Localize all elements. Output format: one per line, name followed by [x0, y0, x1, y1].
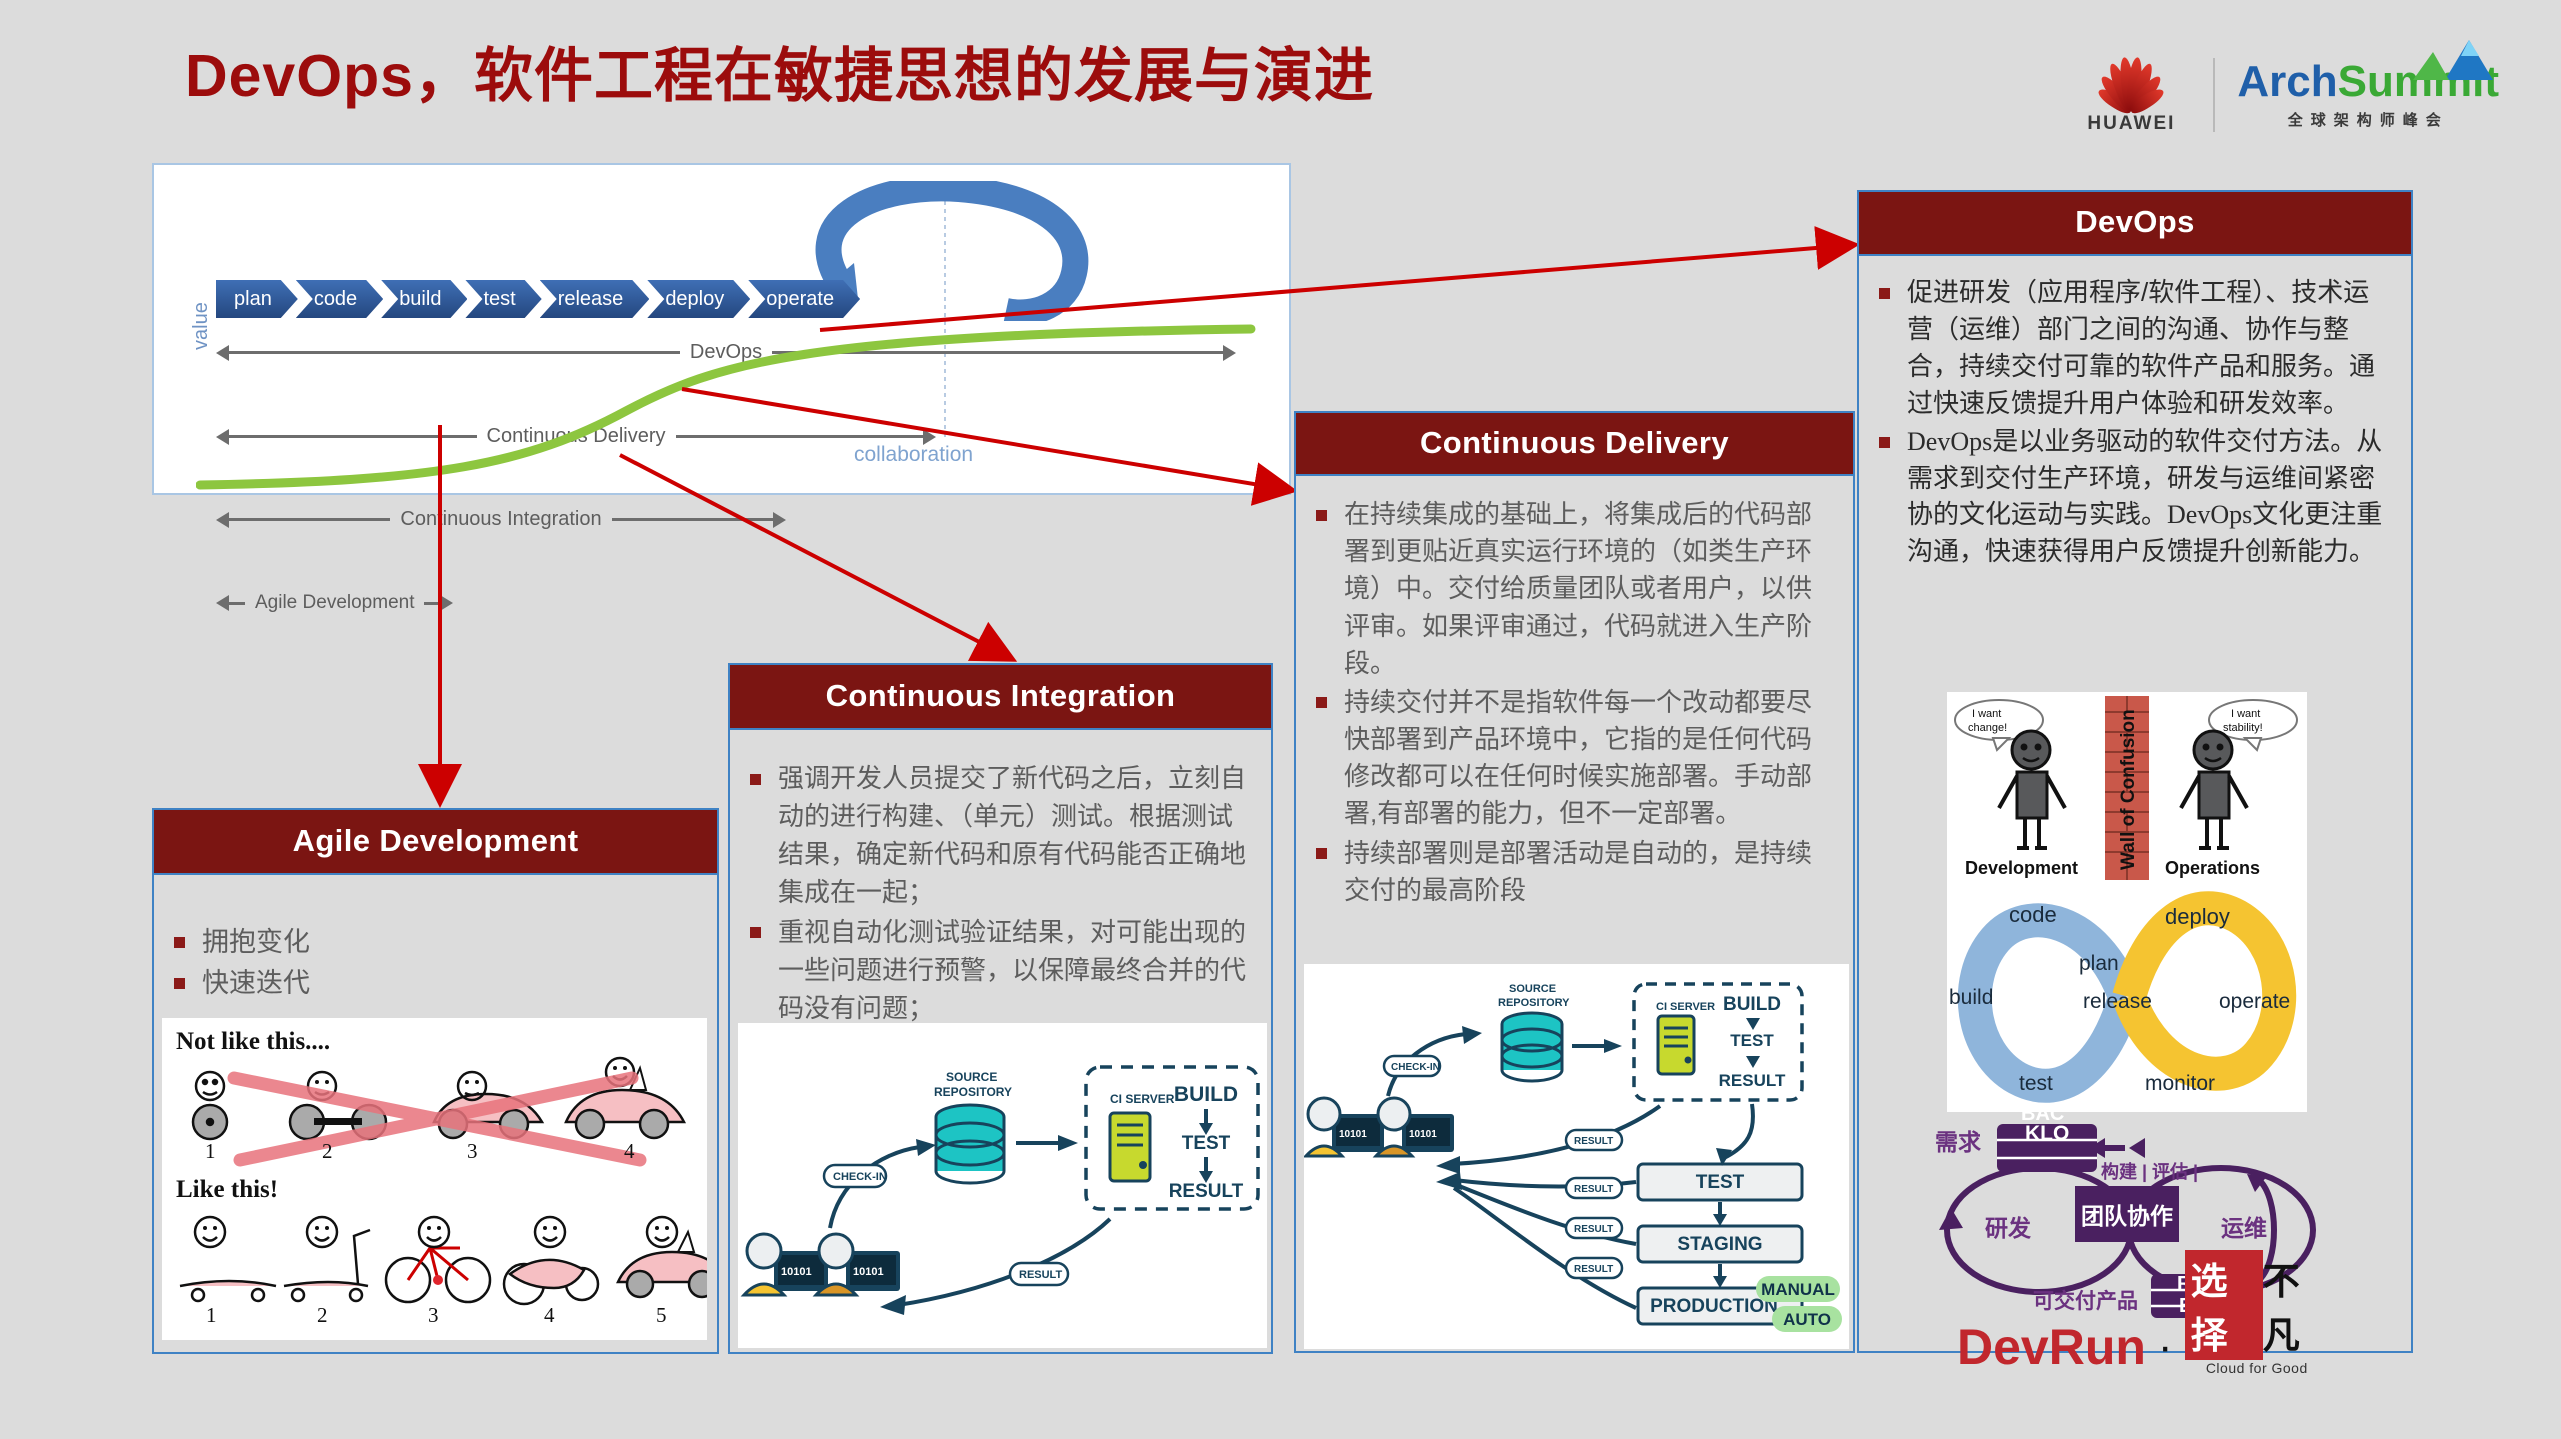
devrun-brand: DevRun	[1957, 1318, 2146, 1376]
svg-text:RESULT: RESULT	[1574, 1224, 1613, 1235]
svg-text:1: 1	[206, 1303, 217, 1327]
svg-text:KLO: KLO	[2025, 1122, 2069, 1145]
panel-devops[interactable]: DevOps 促进研发（应用程序/软件工程）、技术运营（运维）部门之间的沟通、协…	[1857, 190, 2413, 1353]
svg-text:PRODUCTION: PRODUCTION	[1650, 1296, 1778, 1317]
svg-text:3: 3	[428, 1303, 439, 1327]
devrun-tagline-en: Cloud for Good	[2206, 1360, 2308, 1376]
list-item: 快速迭代	[168, 964, 701, 1003]
svg-text:change!: change!	[1968, 722, 2007, 734]
svg-text:5: 5	[656, 1303, 667, 1327]
evolution-band-label: Agile Development	[245, 592, 424, 614]
evolution-band-agile: Agile Development	[216, 592, 571, 614]
list-item: 在持续集成的基础上，将集成后的代码部署到更贴近真实运行环境的（如类生产环境）中。…	[1310, 496, 1837, 682]
svg-text:code: code	[2009, 902, 2057, 927]
devops-evolution-figure: plancodebuildtestreleasedeployoperate De…	[152, 163, 1291, 495]
panel-title-continuous-delivery: Continuous Delivery	[1296, 413, 1853, 476]
svg-text:operate: operate	[2219, 990, 2290, 1013]
svg-text:I want: I want	[2231, 708, 2260, 720]
devrun-tagline-cn-highlight: 选择	[2185, 1250, 2263, 1360]
list-item: 重视自动化测试验证结果，对可能出现的一些问题进行预警，以保障最终合并的代码没有问…	[744, 914, 1255, 1028]
page-title: DevOps，软件工程在敏捷思想的发展与演进	[185, 28, 1374, 113]
ci-pipeline-figure: 10101 10101 CHECK-IN SOURCE REPOSITORY	[738, 1023, 1267, 1348]
panel-title-agile: Agile Development	[154, 810, 717, 875]
svg-text:Wall of Confusion: Wall of Confusion	[2118, 709, 2139, 870]
brand-dot: ·	[2158, 1322, 2173, 1376]
list-item: 持续部署则是部署活动是自动的，是持续交付的最高阶段	[1310, 835, 1837, 909]
pipeline-stage-code: code	[296, 280, 383, 318]
svg-text:Operations: Operations	[2165, 858, 2260, 878]
list-item: 强调开发人员提交了新代码之后，立刻自动的进行构建、（单元）测试。根据测试结果，确…	[744, 760, 1255, 912]
svg-text:需求: 需求	[1935, 1129, 1981, 1155]
svg-text:AUTO: AUTO	[1783, 1310, 1831, 1329]
svg-text:4: 4	[544, 1303, 555, 1327]
svg-text:SOURCE: SOURCE	[1509, 983, 1556, 995]
svg-text:10101: 10101	[1339, 1129, 1367, 1140]
pipeline-stage-test: test	[465, 280, 541, 318]
svg-text:10101: 10101	[781, 1266, 812, 1278]
svg-text:REPOSITORY: REPOSITORY	[934, 1085, 1012, 1099]
figure-caption-not-like-this: Not like this....	[176, 1028, 330, 1056]
svg-text:I want: I want	[1972, 708, 2001, 720]
wall-of-confusion-art: Wall of Confusion I want change! Develop…	[1947, 692, 2307, 882]
svg-text:2: 2	[322, 1139, 333, 1163]
svg-text:RESULT: RESULT	[1574, 1184, 1613, 1195]
archsummit-logo: ArchSummit 全球架构师峰会	[2237, 60, 2499, 130]
svg-text:CI SERVER: CI SERVER	[1656, 1001, 1715, 1013]
svg-text:4: 4	[624, 1139, 635, 1163]
svg-text:10101: 10101	[1409, 1129, 1437, 1140]
pipeline-stage-deploy: deploy	[647, 280, 750, 318]
devrun-tagline-cn-rest: 不凡	[2263, 1251, 2329, 1359]
svg-text:BUILD: BUILD	[1723, 994, 1781, 1015]
svg-text:BUILD: BUILD	[1174, 1083, 1238, 1106]
devops-infinity-figure: code plan build release test deploy oper…	[1947, 882, 2307, 1112]
ci-pipeline-art: 10101 10101 CHECK-IN SOURCE REPOSITORY	[738, 1023, 1267, 1348]
svg-text:构建 | 评估 |: 构建 | 评估 |	[2101, 1161, 2198, 1182]
svg-text:CI SERVER: CI SERVER	[1110, 1092, 1175, 1106]
svg-text:release: release	[2083, 990, 2152, 1013]
cd-bullet-list: 在持续集成的基础上，将集成后的代码部署到更贴近真实运行环境的（如类生产环境）中。…	[1310, 496, 1837, 909]
list-item: 持续交付并不是指软件每一个改动都要尽快部署到产品环境中，它指的是任何代码修改都可…	[1310, 684, 1837, 833]
pipeline-stage-build: build	[381, 280, 467, 318]
svg-text:plan: plan	[2079, 952, 2119, 975]
svg-text:TEST: TEST	[1730, 1031, 1774, 1050]
logo-divider	[2213, 58, 2215, 132]
svg-text:TEST: TEST	[1696, 1172, 1745, 1193]
huawei-label: HUAWEI	[2087, 113, 2175, 135]
svg-text:3: 3	[467, 1139, 478, 1163]
svg-text:研发: 研发	[1985, 1215, 2031, 1241]
svg-text:Development: Development	[1965, 858, 2078, 878]
svg-text:stability!: stability!	[2223, 722, 2263, 734]
cd-pipeline-art: 10101 10101 CHECK-IN SOURCE REPOSITORY	[1304, 964, 1849, 1349]
svg-text:MANUAL: MANUAL	[1761, 1280, 1835, 1299]
svg-text:deploy: deploy	[2165, 904, 2230, 929]
list-item: 促进研发（应用程序/软件工程）、技术运营（运维）部门之间的沟通、协作与整合，持续…	[1873, 274, 2395, 422]
evolution-band-continuous-integration: Continuous Integration	[216, 508, 786, 531]
evolution-band-label: Continuous Integration	[390, 508, 611, 531]
list-item: DevOps是以业务驱动的软件交付方法。从需求到交付生产环境，研发与运维间紧密协…	[1873, 424, 2395, 572]
devrun-process-figure: BAC KLO REL EAS 团队协作 需求 研发 运维 可交付产品 构建 |…	[1929, 1112, 2329, 1352]
figure-caption-like-this: Like this!	[176, 1176, 278, 1204]
cd-pipeline-figure: 10101 10101 CHECK-IN SOURCE REPOSITORY	[1304, 964, 1849, 1349]
panel-title-devops: DevOps	[1859, 192, 2411, 256]
svg-text:STAGING: STAGING	[1677, 1234, 1762, 1255]
svg-text:RESULT: RESULT	[1574, 1136, 1613, 1147]
agile-mvp-figure: Not like this.... Like this!	[162, 1018, 707, 1340]
ci-bullet-list: 强调开发人员提交了新代码之后，立刻自动的进行构建、（单元）测试。根据测试结果，确…	[744, 760, 1255, 1028]
svg-text:10101: 10101	[853, 1266, 884, 1278]
pipeline-stage-row: plancodebuildtestreleasedeployoperate	[216, 280, 858, 318]
svg-text:REPOSITORY: REPOSITORY	[1498, 997, 1570, 1009]
devops-infinity-art: code plan build release test deploy oper…	[1947, 882, 2307, 1112]
svg-text:团队协作: 团队协作	[2081, 1203, 2173, 1229]
pipeline-stage-release: release	[540, 280, 650, 318]
devops-bullet-list: 促进研发（应用程序/软件工程）、技术运营（运维）部门之间的沟通、协作与整合，持续…	[1873, 274, 2395, 571]
panel-agile-development[interactable]: Agile Development 拥抱变化 快速迭代 Not like thi…	[152, 808, 719, 1354]
huawei-logo: HUAWEI	[2071, 55, 2191, 135]
svg-text:运维: 运维	[2221, 1215, 2267, 1241]
agile-bullet-list: 拥抱变化 快速迭代	[168, 923, 701, 1003]
svg-text:1: 1	[205, 1139, 216, 1163]
pipeline-stage-plan: plan	[216, 280, 298, 318]
svg-text:2: 2	[317, 1303, 328, 1327]
value-growth-curve	[196, 315, 1256, 491]
svg-text:SOURCE: SOURCE	[946, 1070, 997, 1084]
svg-text:RESULT: RESULT	[1719, 1071, 1786, 1090]
svg-text:RESULT: RESULT	[1019, 1269, 1062, 1281]
svg-text:monitor: monitor	[2145, 1072, 2215, 1095]
panel-continuous-integration[interactable]: Continuous Integration 强调开发人员提交了新代码之后，立刻…	[728, 663, 1273, 1354]
svg-text:test: test	[2019, 1072, 2053, 1095]
logo-bar: HUAWEI ArchSummit 全球架构师峰会	[2071, 55, 2499, 135]
list-item: 拥抱变化	[168, 923, 701, 962]
svg-text:build: build	[1949, 986, 1993, 1009]
mountain-icon	[2383, 36, 2503, 82]
svg-text:CHECK-IN: CHECK-IN	[1391, 1062, 1440, 1073]
svg-text:RESULT: RESULT	[1574, 1264, 1613, 1275]
wall-of-confusion-figure: Wall of Confusion I want change! Develop…	[1947, 692, 2307, 882]
archsummit-subtitle: 全球架构师峰会	[2288, 109, 2449, 130]
svg-text:CHECK-IN: CHECK-IN	[833, 1171, 887, 1183]
svg-text:RESULT: RESULT	[1169, 1181, 1244, 1202]
devrun-brand-lockup: DevRun · 选择不凡 Cloud for Good	[1957, 1250, 2329, 1376]
panel-continuous-delivery[interactable]: Continuous Delivery 在持续集成的基础上，将集成后的代码部署到…	[1294, 411, 1855, 1353]
panel-title-continuous-integration: Continuous Integration	[730, 665, 1271, 730]
svg-text:TEST: TEST	[1182, 1133, 1231, 1154]
archsummit-word-arch: Arch	[2237, 57, 2337, 106]
huawei-flower-icon	[2083, 55, 2179, 111]
pipeline-stage-operate: operate	[748, 280, 860, 318]
